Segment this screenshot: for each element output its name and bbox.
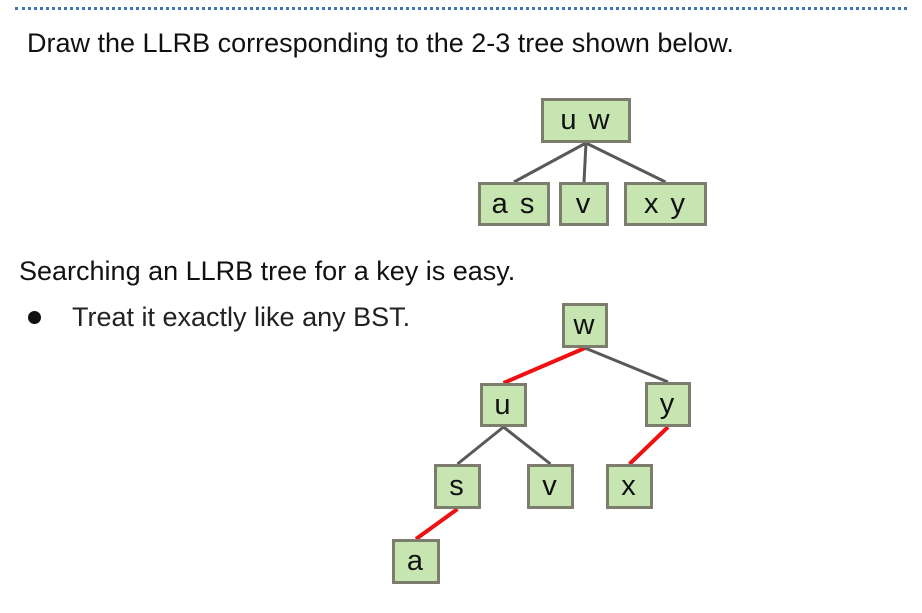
llrb-tree-node-x: x — [606, 464, 653, 509]
two-three-tree-edge-root23-v23 — [584, 143, 586, 182]
searching-heading: Searching an LLRB tree for a key is easy… — [19, 256, 515, 287]
bullet-list-item: Treat it exactly like any BST. — [28, 302, 410, 333]
llrb-tree-node-v: v — [527, 464, 574, 509]
two-three-tree-node-xy23: x y — [624, 182, 707, 226]
two-three-tree-node-v23: v — [559, 182, 609, 226]
two-three-tree-node-root23: u w — [541, 98, 631, 143]
top-divider-dotted-line — [15, 7, 907, 10]
llrb-tree-edge-s-a — [416, 509, 458, 539]
llrb-tree-node-s: s — [434, 464, 481, 509]
two-three-tree-node-as23: a s — [478, 182, 550, 226]
llrb-tree-node-y: y — [645, 382, 691, 427]
bullet-dot-icon — [28, 311, 41, 324]
llrb-tree-edge-w-y — [585, 348, 668, 382]
llrb-tree-edge-y-x — [630, 427, 669, 464]
llrb-tree-node-u: u — [480, 383, 527, 427]
llrb-tree-node-w: w — [562, 303, 608, 348]
page-title: Draw the LLRB corresponding to the 2-3 t… — [27, 28, 734, 59]
bullet-item-label: Treat it exactly like any BST. — [72, 302, 410, 333]
llrb-tree-edge-u-s — [458, 427, 504, 464]
llrb-tree-node-a: a — [392, 539, 440, 584]
llrb-tree-edge-u-v — [504, 427, 551, 464]
two-three-tree-edge-root23-as23 — [514, 143, 586, 182]
slide-canvas: Draw the LLRB corresponding to the 2-3 t… — [0, 0, 922, 613]
two-three-tree-edge-root23-xy23 — [586, 143, 666, 182]
llrb-tree-edge-w-u — [504, 348, 586, 383]
